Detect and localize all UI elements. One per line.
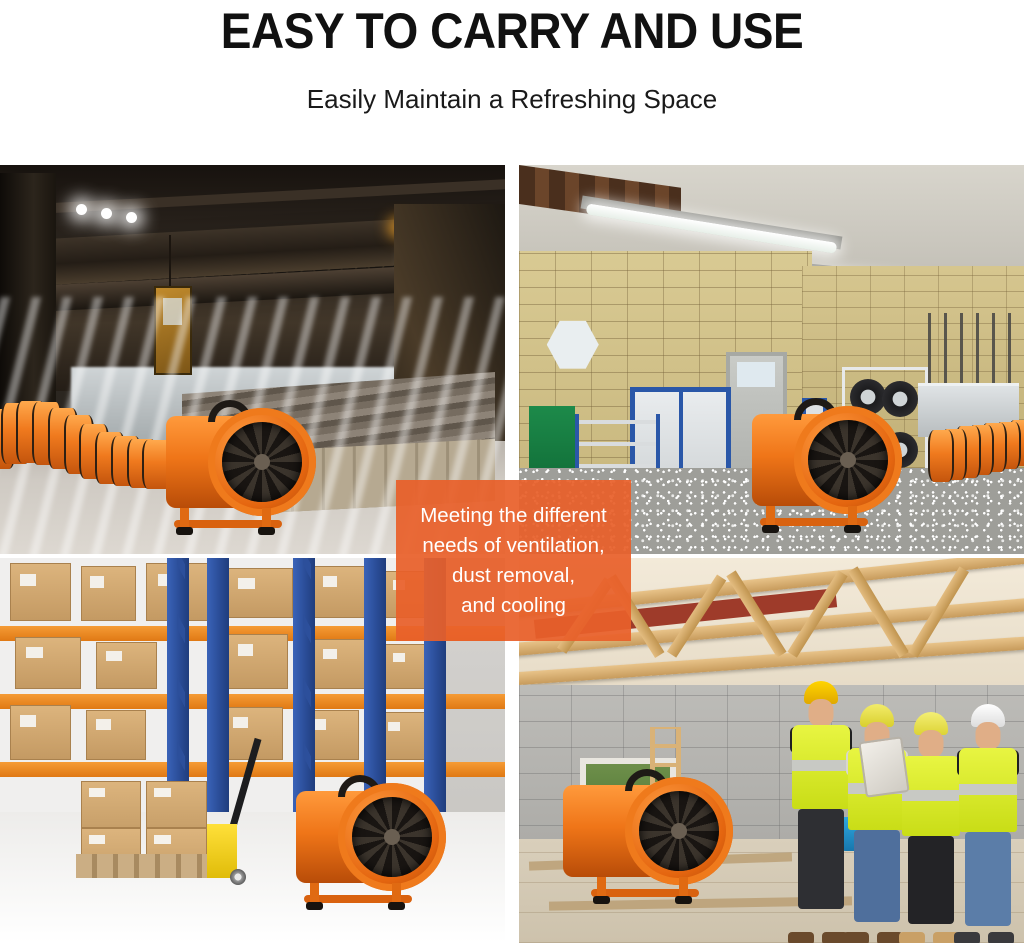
product-blower-fan-photo4 <box>583 777 733 885</box>
fan-hub <box>840 452 856 468</box>
fan-foot <box>388 902 405 910</box>
callout-line-4: and cooling <box>461 591 566 621</box>
fan-foot <box>844 525 861 533</box>
header: EASY TO CARRY AND USE Easily Maintain a … <box>0 0 1024 116</box>
mill-lamp-icon <box>101 208 112 219</box>
worker-head <box>808 699 833 727</box>
rack-upright <box>207 558 229 820</box>
page-title: EASY TO CARRY AND USE <box>41 2 983 60</box>
garage-tool-wall <box>928 313 1014 391</box>
worker-legs <box>908 836 954 924</box>
work-boot <box>788 932 814 943</box>
mill-lamp-icon <box>126 212 137 223</box>
worker-legs <box>965 832 1011 926</box>
wooden-pallet <box>76 854 212 877</box>
page-subtitle: Easily Maintain a Refreshing Space <box>0 82 1024 116</box>
fan-foot <box>675 896 692 904</box>
fan-hub <box>384 829 400 845</box>
warehouse-box <box>86 710 147 760</box>
hi-vis-vest <box>959 748 1017 832</box>
rack-brace <box>303 558 311 820</box>
warehouse-box <box>96 642 157 689</box>
warehouse-box <box>313 639 369 689</box>
construction-worker-4 <box>948 704 1024 943</box>
fan-hub <box>254 454 270 470</box>
work-boot <box>954 932 980 943</box>
fan-foot <box>306 902 323 910</box>
garage-shelf-unit <box>575 414 661 468</box>
worker-head <box>976 722 1001 750</box>
warehouse-box <box>10 705 71 760</box>
warehouse-box <box>379 712 430 759</box>
warehouse-box <box>227 634 288 689</box>
work-boot <box>988 932 1014 943</box>
product-feature-image: EASY TO CARRY AND USE Easily Maintain a … <box>0 0 1024 943</box>
fan-foot <box>258 527 275 535</box>
worker-head <box>918 730 943 758</box>
fan-foot <box>593 896 610 904</box>
mill-lamp-icon <box>76 204 87 215</box>
product-blower-fan-photo1 <box>166 408 316 516</box>
pallet-box <box>81 781 142 827</box>
warehouse-box <box>81 566 137 621</box>
fan-hub <box>671 823 687 839</box>
worker-tablet <box>859 736 910 798</box>
feature-callout-box: Meeting the different needs of ventilati… <box>396 480 631 641</box>
fan-foot <box>762 525 779 533</box>
work-boot <box>843 932 869 943</box>
work-boot <box>899 932 925 943</box>
mill-hoist-cable <box>169 235 171 289</box>
warehouse-box <box>227 568 293 618</box>
callout-line-2: needs of ventilation, <box>422 531 604 561</box>
callout-line-3: dust removal, <box>452 561 575 591</box>
product-blower-fan-photo3 <box>296 783 446 891</box>
warehouse-box <box>313 566 369 618</box>
pallet-jack-wheel <box>230 869 246 885</box>
warehouse-box <box>15 637 81 689</box>
pallet-box <box>146 781 207 827</box>
warehouse-box <box>10 563 71 621</box>
product-blower-fan-photo2 <box>752 406 902 514</box>
fan-foot <box>176 527 193 535</box>
callout-line-1: Meeting the different <box>420 501 607 531</box>
